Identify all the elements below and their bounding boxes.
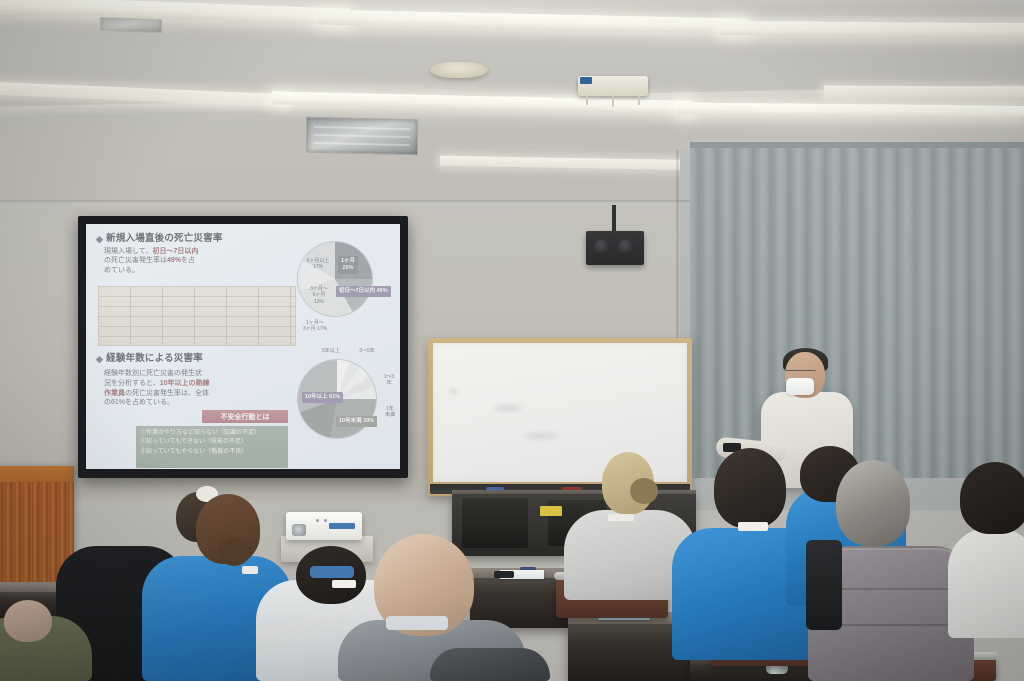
- slide-body-2-l1: 経験年数別に死亡災害の発生状: [104, 370, 202, 377]
- projector: [286, 512, 362, 540]
- green-list-item-2: ②知っていてもできない（技能の不足）: [140, 438, 284, 447]
- slide-green-list: ①作業のやり方など知らない（知識の不足） ②知っていてもできない（技能の不足） …: [136, 426, 288, 468]
- seminar-room-photo: ◆ 新規入場直後の死亡災害率 現場入場して、初日～7日以内 の死亡災害発生率は4…: [0, 0, 1024, 681]
- pie1-label-lower: 3ヶ月～6ヶ月13%: [302, 286, 336, 305]
- attendee-6-collar-tag: [608, 514, 634, 521]
- window-curtain: [690, 148, 1024, 478]
- attendee-9-sleeve: [806, 540, 842, 630]
- projector-lens: [292, 524, 306, 536]
- projection-screen: ◆ 新規入場直後の死亡災害率 現場入場して、初日～7日以内 の死亡災害発生率は4…: [78, 216, 408, 478]
- projector-stripe: [329, 523, 355, 529]
- slide-body-2-l3: の死亡災害発生率は、全体: [125, 390, 209, 397]
- slide-heading-1: ◆ 新規入場直後の死亡災害率: [96, 234, 392, 245]
- slide-pink-callout: 不安全行動とは: [202, 410, 288, 423]
- wood-panel-trim: [0, 466, 74, 482]
- slide-body-1-l3: を占: [181, 257, 195, 264]
- fixture-tab: [580, 77, 592, 84]
- slide-body-2-hi: 10年以上の熟練: [160, 380, 210, 387]
- slide-body-1-hi: 初日～7日以内: [152, 248, 198, 255]
- pie1-slice-label-top: 1ヶ月25%: [338, 256, 358, 274]
- pie1-label-left: 6ヶ月以上17%: [300, 258, 336, 271]
- attendee-7-collar-tag: [738, 522, 768, 531]
- presentation-slide: ◆ 新規入場直後の死亡災害率 現場入場して、初日～7日以内 の死亡災害発生率は4…: [86, 224, 400, 469]
- pie2-label-topright: 3～5年: [352, 348, 382, 354]
- whiteboard-surface: [433, 343, 687, 482]
- attendee-10-torso: [948, 528, 1024, 638]
- attendee-10-head: [960, 462, 1024, 534]
- fluorescent-strip-light: [824, 85, 1024, 97]
- screen-surface: ◆ 新規入場直後の死亡災害率 現場入場して、初日～7日以内 の死亡災害発生率は4…: [86, 224, 400, 469]
- attendee-3-collar-tag: [242, 566, 258, 574]
- bullet-diamond-icon: ◆: [96, 354, 103, 365]
- slide-body-1-l4: めている。: [104, 267, 139, 274]
- pie2-secondary-label: 10年未満 39%: [336, 416, 377, 427]
- slide-body-2-l4: の61%を占めている。: [104, 399, 174, 406]
- attendee-4-headband: [310, 566, 354, 578]
- slide-body-1: 現場入場して、初日～7日以内 の死亡災害発生率は49%を占 めている。: [104, 247, 254, 275]
- attendee-3-hair-bun: [218, 538, 250, 566]
- green-list-item-3: ③知っていてもやらない（態度の不良）: [140, 448, 284, 457]
- slide-heading-2-text: 経験年数による災害率: [106, 354, 203, 364]
- fluorescent-strip-light: [720, 21, 1024, 37]
- slide-body-1-l1: 現場入場して、: [104, 248, 152, 255]
- accident-statistics-table: [98, 286, 296, 346]
- equipment-label: [540, 506, 562, 516]
- eyeglasses-icon: [785, 370, 816, 378]
- pie2-label-right: 1～3年: [378, 374, 400, 387]
- mobile-phone: [494, 571, 514, 578]
- air-conditioning-vent: [100, 17, 162, 33]
- slide-body-1-l2: の死亡災害発生率は: [104, 257, 167, 264]
- face-mask-icon: [786, 378, 814, 395]
- attendee-7-head: [714, 448, 786, 528]
- air-conditioning-vent: [306, 117, 418, 156]
- attendee-4-collar-tag: [332, 580, 356, 588]
- smoke-detector: [430, 62, 488, 78]
- pie1-highlight-label: 初日～7日以内 49%: [336, 286, 391, 297]
- pie2-label-rightlow: 1年未満: [378, 406, 400, 419]
- pie-chart-entry-period: [298, 242, 372, 316]
- slide-body-2-l2: 況を分析すると、: [104, 380, 160, 387]
- pie2-label-top: 5年以上: [314, 348, 348, 354]
- pie2-highlight-label: 10年以上 61%: [302, 392, 343, 403]
- av-equipment-box: [462, 498, 528, 548]
- slide-heading-1-text: 新規入場直後の死亡災害率: [106, 234, 222, 244]
- attendee-11-head: [4, 600, 52, 642]
- ceiling-speaker: [586, 231, 644, 265]
- attendee-1-torso: [430, 648, 550, 681]
- pie1-label-bottom: 1ヶ月～3ヶ月 17%: [294, 320, 336, 333]
- slide-heading-2: ◆ 経験年数による災害率: [96, 354, 203, 365]
- attendee-6-hair-bun: [630, 478, 658, 504]
- slide-body-1-hi2: 49%: [167, 257, 181, 264]
- slide-body-2: 経験年数別に死亡災害の発生状 況を分析すると、10年以上の熟練 作業員の死亡災害…: [104, 369, 210, 408]
- bullet-diamond-icon: ◆: [96, 234, 103, 245]
- speaker-mount: [612, 205, 616, 233]
- attendee-5-collar: [386, 616, 448, 630]
- ceiling-fixture: [578, 76, 648, 96]
- attendee-9-head: [836, 460, 910, 546]
- green-list-item-1: ①作業のやり方など知らない（知識の不足）: [140, 429, 284, 438]
- pen: [520, 567, 536, 570]
- slide-body-2-hi2: 作業員: [104, 390, 125, 397]
